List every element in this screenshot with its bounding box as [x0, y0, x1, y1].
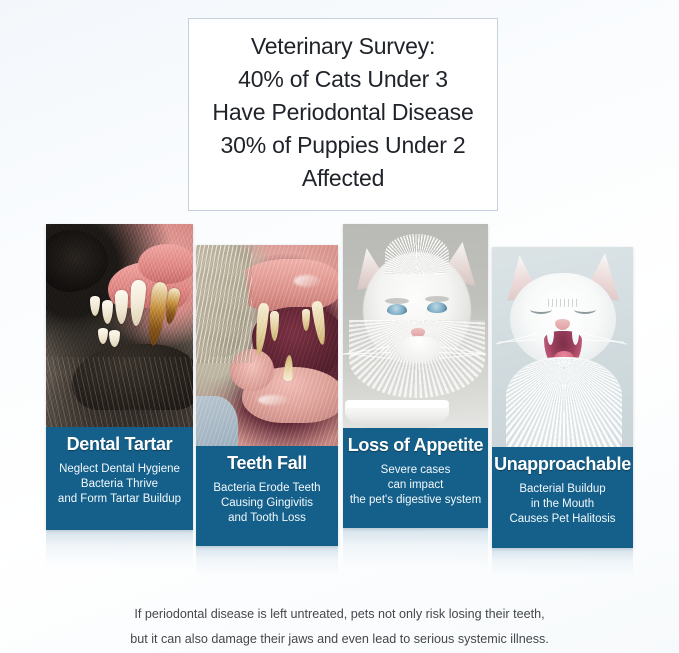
panel-reflection-3 — [343, 528, 488, 568]
footnote: If periodontal disease is left untreated… — [0, 602, 679, 652]
panel-2-body-line-3: and Tooth Loss — [213, 511, 320, 526]
panel-loss-of-appetite[interactable]: Loss of Appetite Severe cases can impact… — [343, 224, 488, 528]
panel-teeth-fall[interactable]: Teeth Fall Bacteria Erode Teeth Causing … — [196, 245, 338, 546]
panel-1-body-line-3: and Form Tartar Buildup — [58, 492, 181, 507]
headline-line-1: Veterinary Survey: — [251, 30, 435, 63]
panel-2-body: Bacteria Erode Teeth Causing Gingivitis … — [213, 481, 320, 526]
panel-4-caption: Unapproachable Bacterial Buildup in the … — [492, 447, 633, 548]
panel-4-title: Unapproachable — [494, 453, 631, 475]
panel-dental-tartar[interactable]: Dental Tartar Neglect Dental Hygiene Bac… — [46, 224, 193, 530]
panel-2-title: Teeth Fall — [227, 452, 307, 474]
panel-reflection-1 — [46, 530, 193, 568]
panel-4-body-line-3: Causes Pet Halitosis — [509, 512, 615, 527]
panel-3-body-line-2: can impact — [350, 478, 481, 493]
panel-4-body-line-2: in the Mouth — [509, 497, 615, 512]
panel-1-title: Dental Tartar — [67, 433, 173, 455]
panel-1-body-line-2: Bacteria Thrive — [58, 477, 181, 492]
panel-1-body-line-1: Neglect Dental Hygiene — [58, 462, 181, 477]
panel-2-caption: Teeth Fall Bacteria Erode Teeth Causing … — [196, 446, 338, 546]
panel-3-body: Severe cases can impact the pet's digest… — [350, 463, 481, 508]
headline-line-3: Have Periodontal Disease — [212, 96, 473, 129]
headline-line-4: 30% of Puppies Under 2 — [221, 129, 466, 162]
panel-3-body-line-1: Severe cases — [350, 463, 481, 478]
dog-muzzle-with-tartar-photo — [46, 224, 193, 427]
footnote-line-1: If periodontal disease is left untreated… — [0, 602, 679, 627]
headline-line-2: 40% of Cats Under 3 — [238, 63, 448, 96]
panel-2-body-line-1: Bacteria Erode Teeth — [213, 481, 320, 496]
panel-3-caption: Loss of Appetite Severe cases can impact… — [343, 428, 488, 528]
panel-reflection-2 — [196, 546, 338, 576]
panel-4-body: Bacterial Buildup in the Mouth Causes Pe… — [509, 482, 615, 527]
panel-3-title: Loss of Appetite — [348, 434, 484, 456]
panel-1-caption: Dental Tartar Neglect Dental Hygiene Bac… — [46, 427, 193, 530]
hissing-white-cat-photo — [492, 247, 633, 447]
panel-2-body-line-2: Causing Gingivitis — [213, 496, 320, 511]
footnote-line-2: but it can also damage their jaws and ev… — [0, 627, 679, 652]
panel-4-body-line-1: Bacterial Buildup — [509, 482, 615, 497]
cat-mouth-gingivitis-photo — [196, 245, 338, 446]
white-cat-at-food-bowl-photo — [343, 224, 488, 428]
survey-headline-box: Veterinary Survey: 40% of Cats Under 3 H… — [188, 18, 498, 211]
panel-unapproachable[interactable]: Unapproachable Bacterial Buildup in the … — [492, 247, 633, 548]
panel-1-body: Neglect Dental Hygiene Bacteria Thrive a… — [58, 462, 181, 507]
panel-3-body-line-3: the pet's digestive system — [350, 493, 481, 508]
panel-reflection-4 — [492, 548, 633, 576]
headline-line-5: Affected — [302, 162, 384, 195]
